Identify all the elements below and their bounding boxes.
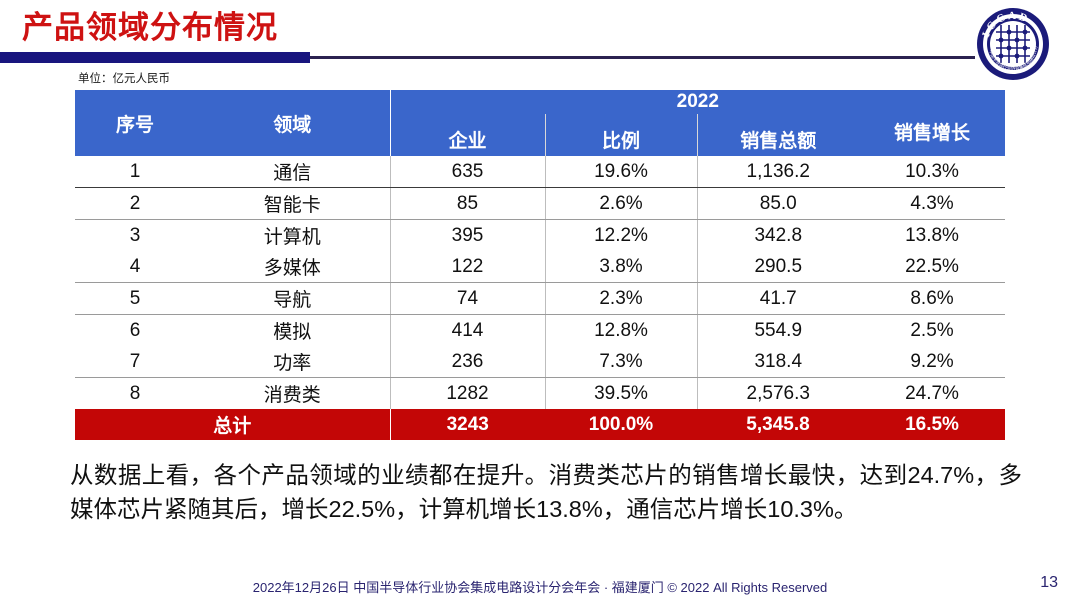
title-divider-thin — [310, 56, 975, 59]
cell-total-ratio: 100.0% — [545, 409, 697, 440]
cell-sales-growth: 24.7% — [859, 378, 1005, 410]
cell-index: 1 — [75, 156, 195, 188]
table-row: 1 通信 635 19.6% 1,136.2 10.3% — [75, 156, 1005, 188]
iccad-logo: I C C A D 中国半导体行业协会集成电路设计分会 — [975, 6, 1051, 82]
cell-ratio: 2.6% — [545, 188, 697, 220]
cell-index: 3 — [75, 220, 195, 252]
cell-enterprises: 85 — [390, 188, 545, 220]
page-title: 产品领域分布情况 — [22, 8, 278, 48]
table-row: 8 消费类 1282 39.5% 2,576.3 24.7% — [75, 378, 1005, 410]
column-header-total-sales: 销售总额 — [697, 114, 859, 156]
cell-enterprises: 74 — [390, 283, 545, 315]
table-body: 1 通信 635 19.6% 1,136.2 10.3% 2 智能卡 85 2.… — [75, 156, 1005, 440]
table-row: 7 功率 236 7.3% 318.4 9.2% — [75, 346, 1005, 378]
cell-ratio: 2.3% — [545, 283, 697, 315]
cell-enterprises: 414 — [390, 315, 545, 347]
cell-sales-growth: 4.3% — [859, 188, 1005, 220]
cell-index: 6 — [75, 315, 195, 347]
cell-sales-growth: 8.6% — [859, 283, 1005, 315]
cell-ratio: 7.3% — [545, 346, 697, 378]
cell-enterprises: 236 — [390, 346, 545, 378]
cell-enterprises: 395 — [390, 220, 545, 252]
cell-sales-growth: 10.3% — [859, 156, 1005, 188]
column-header-index: 序号 — [75, 90, 195, 156]
footer-copyright: 2022年12月26日 中国半导体行业协会集成电路设计分会年会 · 福建厦门 ©… — [0, 577, 1080, 596]
cell-field: 多媒体 — [195, 251, 390, 283]
cell-field: 计算机 — [195, 220, 390, 252]
cell-index: 2 — [75, 188, 195, 220]
table-row: 6 模拟 414 12.8% 554.9 2.5% — [75, 315, 1005, 347]
page-number: 13 — [1040, 574, 1058, 592]
table-row: 4 多媒体 122 3.8% 290.5 22.5% — [75, 251, 1005, 283]
cell-sales-growth: 9.2% — [859, 346, 1005, 378]
cell-total-label: 总计 — [75, 409, 390, 440]
cell-field: 模拟 — [195, 315, 390, 347]
table-head: 序号 领域 2022 企业 比例 销售总额 销售增长 — [75, 90, 1005, 156]
column-header-ratio: 比例 — [545, 114, 697, 156]
cell-ratio: 19.6% — [545, 156, 697, 188]
cell-total-sales: 342.8 — [697, 220, 859, 252]
cell-index: 7 — [75, 346, 195, 378]
cell-sales-growth: 13.8% — [859, 220, 1005, 252]
cell-total-sales: 5,345.8 — [697, 409, 859, 440]
cell-total-sales: 85.0 — [697, 188, 859, 220]
cell-enterprises: 635 — [390, 156, 545, 188]
product-field-distribution-table: 序号 领域 2022 企业 比例 销售总额 销售增长 1 通信 635 19.6… — [75, 90, 1005, 440]
cell-field: 功率 — [195, 346, 390, 378]
cell-ratio: 3.8% — [545, 251, 697, 283]
cell-ratio: 12.2% — [545, 220, 697, 252]
cell-sales-growth: 22.5% — [859, 251, 1005, 283]
cell-total-sales: 318.4 — [697, 346, 859, 378]
cell-index: 8 — [75, 378, 195, 410]
cell-field: 导航 — [195, 283, 390, 315]
cell-total-sales: 41.7 — [697, 283, 859, 315]
cell-total-sales: 1,136.2 — [697, 156, 859, 188]
cell-index: 5 — [75, 283, 195, 315]
table-total-row: 总计 3243 100.0% 5,345.8 16.5% — [75, 409, 1005, 440]
cell-total-sales: 554.9 — [697, 315, 859, 347]
cell-total-sales: 290.5 — [697, 251, 859, 283]
unit-label: 单位：亿元人民币 — [78, 70, 170, 86]
cell-enterprises: 122 — [390, 251, 545, 283]
cell-ratio: 12.8% — [545, 315, 697, 347]
table-row: 5 导航 74 2.3% 41.7 8.6% — [75, 283, 1005, 315]
column-header-field: 领域 — [195, 90, 390, 156]
cell-total-enterprises: 3243 — [390, 409, 545, 440]
table-row: 2 智能卡 85 2.6% 85.0 4.3% — [75, 188, 1005, 220]
cell-field: 智能卡 — [195, 188, 390, 220]
column-header-year-group: 2022 — [390, 90, 1005, 114]
cell-total-sales: 2,576.3 — [697, 378, 859, 410]
cell-ratio: 39.5% — [545, 378, 697, 410]
title-divider-thick — [0, 52, 310, 63]
summary-paragraph: 从数据上看，各个产品领域的业绩都在提升。消费类芯片的销售增长最快，达到24.7%… — [70, 458, 1022, 526]
cell-total-sales-growth: 16.5% — [859, 409, 1005, 440]
cell-index: 4 — [75, 251, 195, 283]
table-header-row-top: 序号 领域 2022 — [75, 90, 1005, 114]
column-header-sales-growth: 销售增长 — [859, 114, 1005, 156]
cell-field: 通信 — [195, 156, 390, 188]
cell-sales-growth: 2.5% — [859, 315, 1005, 347]
cell-enterprises: 1282 — [390, 378, 545, 410]
table-row: 3 计算机 395 12.2% 342.8 13.8% — [75, 220, 1005, 252]
column-header-enterprises: 企业 — [390, 114, 545, 156]
cell-field: 消费类 — [195, 378, 390, 410]
